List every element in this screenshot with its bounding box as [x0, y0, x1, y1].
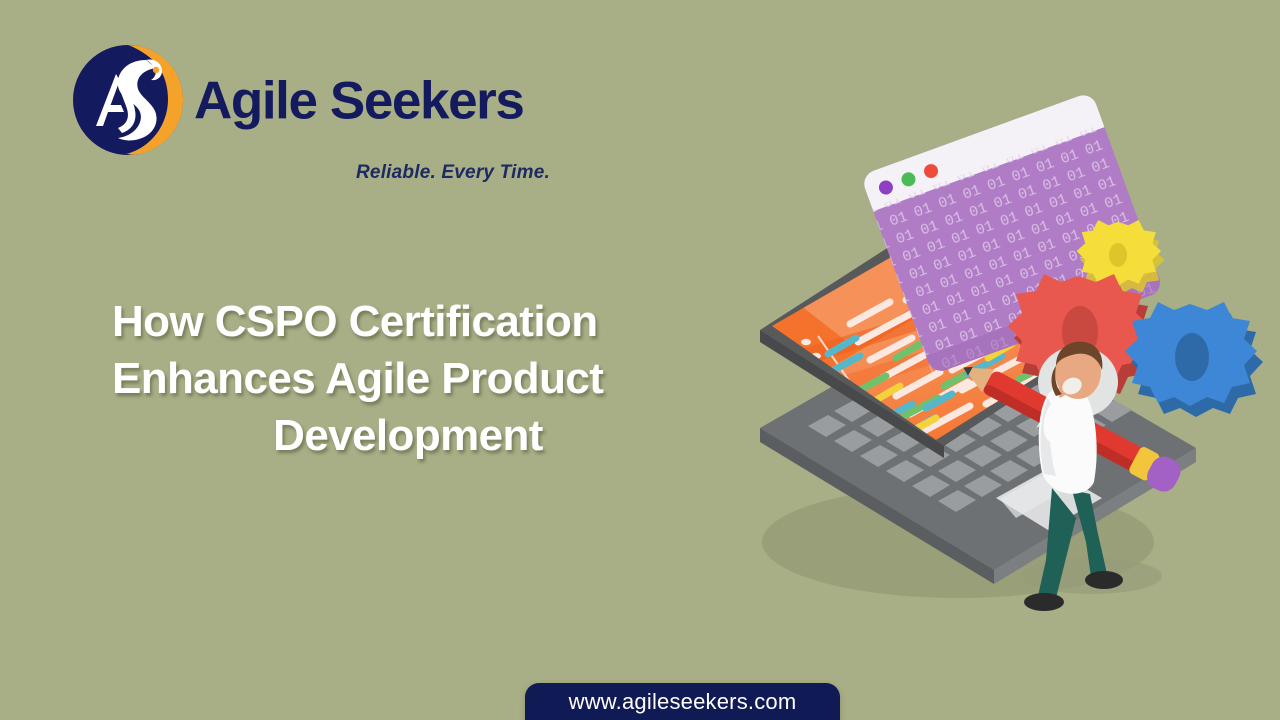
agile-seekers-as-monogram-icon	[72, 44, 184, 156]
banner-canvas: Agile Seekers Reliable. Every Time. How …	[0, 0, 1280, 720]
website-url-badge[interactable]: www.agileseekers.com	[525, 683, 840, 720]
headline-line-1: How CSPO Certification	[112, 294, 704, 351]
page-title: How CSPO Certification Enhances Agile Pr…	[112, 294, 704, 464]
brand-tagline: Reliable. Every Time.	[356, 162, 550, 184]
shoe-right	[1085, 571, 1123, 589]
gear-blue-icon	[1125, 302, 1263, 417]
headline-line-2: Enhances Agile Product	[112, 351, 704, 408]
brand-wordmark: Agile Seekers	[194, 71, 523, 132]
shoe-left	[1024, 593, 1064, 611]
headline-line-3: Development	[112, 408, 704, 465]
isometric-laptop-illustration: 01	[700, 90, 1280, 650]
website-url-text: www.agileseekers.com	[569, 689, 797, 715]
brand-logo[interactable]: Agile Seekers Reliable. Every Time.	[72, 44, 542, 162]
